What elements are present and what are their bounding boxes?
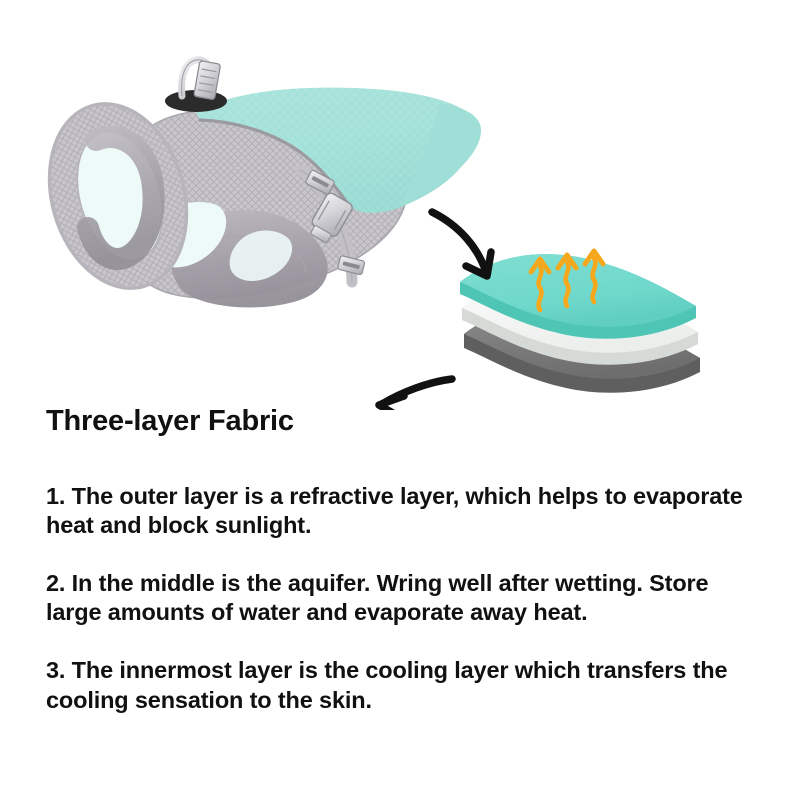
pointer-arrows <box>0 0 800 410</box>
paragraph-outer-layer: 1. The outer layer is a refractive layer… <box>46 482 758 540</box>
paragraph-inner-layer: 3. The innermost layer is the cooling la… <box>46 656 758 714</box>
infographic-root: Three-layer Fabric 1. The outer layer is… <box>0 0 800 800</box>
page-title: Three-layer Fabric <box>46 406 762 438</box>
text-content: Three-layer Fabric 1. The outer layer is… <box>46 406 762 715</box>
paragraph-middle-layer: 2. In the middle is the aquifer. Wring w… <box>46 569 758 627</box>
illustration-area <box>0 0 800 410</box>
arrow-vest-to-fabric-icon <box>432 212 491 276</box>
